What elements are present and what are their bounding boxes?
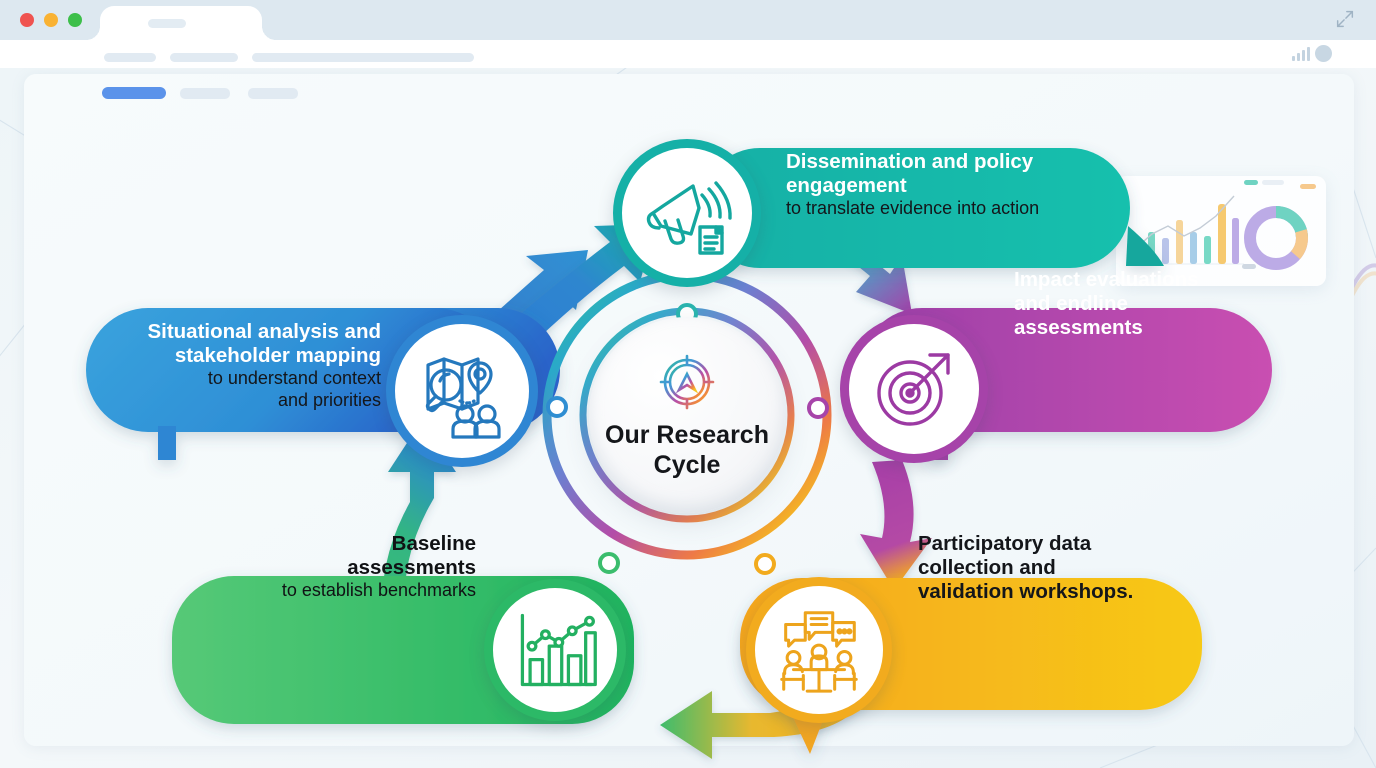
node-label-baseline-assessments: Baseline assessments to establish benchm… [232, 532, 476, 602]
node-icon-impact-evaluations[interactable] [840, 315, 988, 463]
workshop-discussion-icon [770, 601, 868, 699]
cycle-center-hub: Our Research Cycle [540, 268, 834, 562]
app-window: Situational analysis and stakeholder map… [0, 0, 1376, 768]
node-label-dissemination: Dissemination and policy engagement to t… [786, 150, 1116, 220]
address-bar-placeholder[interactable] [252, 53, 474, 62]
node-label-situational-analysis: Situational analysis and stakeholder map… [96, 320, 381, 411]
map-search-people-icon [412, 341, 512, 441]
traffic-lights[interactable] [20, 13, 82, 27]
close-window-button[interactable] [20, 13, 34, 27]
research-cycle-diagram: Situational analysis and stakeholder map… [0, 68, 1376, 768]
cycle-center-content: Our Research Cycle [589, 317, 785, 513]
node-label-impact-evaluations: Impact evaluations and endline assessmen… [1014, 268, 1264, 341]
target-arrow-icon [866, 341, 962, 437]
tab-title-placeholder [148, 19, 186, 28]
maximize-window-button[interactable] [68, 13, 82, 27]
toolbar-placeholder-2 [170, 53, 238, 62]
signal-bars-icon [1292, 47, 1310, 61]
browser-tab[interactable] [100, 6, 262, 40]
minimize-window-button[interactable] [44, 13, 58, 27]
bar-line-chart-icon [509, 604, 601, 696]
node-label-participatory-data: Participatory data collection and valida… [918, 532, 1194, 605]
avatar[interactable] [1315, 45, 1332, 62]
page-canvas: Situational analysis and stakeholder map… [0, 68, 1376, 768]
browser-toolbar [0, 40, 1376, 68]
window-titlebar [0, 0, 1376, 40]
compass-icon [655, 350, 719, 414]
expand-arrows-icon[interactable] [1334, 8, 1356, 30]
node-icon-situational-analysis[interactable] [386, 315, 538, 467]
node-icon-participatory-data[interactable] [746, 577, 892, 723]
node-icon-baseline-assessments[interactable] [484, 579, 626, 721]
cycle-center-title: Our Research Cycle [605, 420, 769, 481]
megaphone-document-icon [639, 165, 735, 261]
toolbar-placeholder-1 [104, 53, 156, 62]
node-icon-dissemination[interactable] [613, 139, 761, 287]
